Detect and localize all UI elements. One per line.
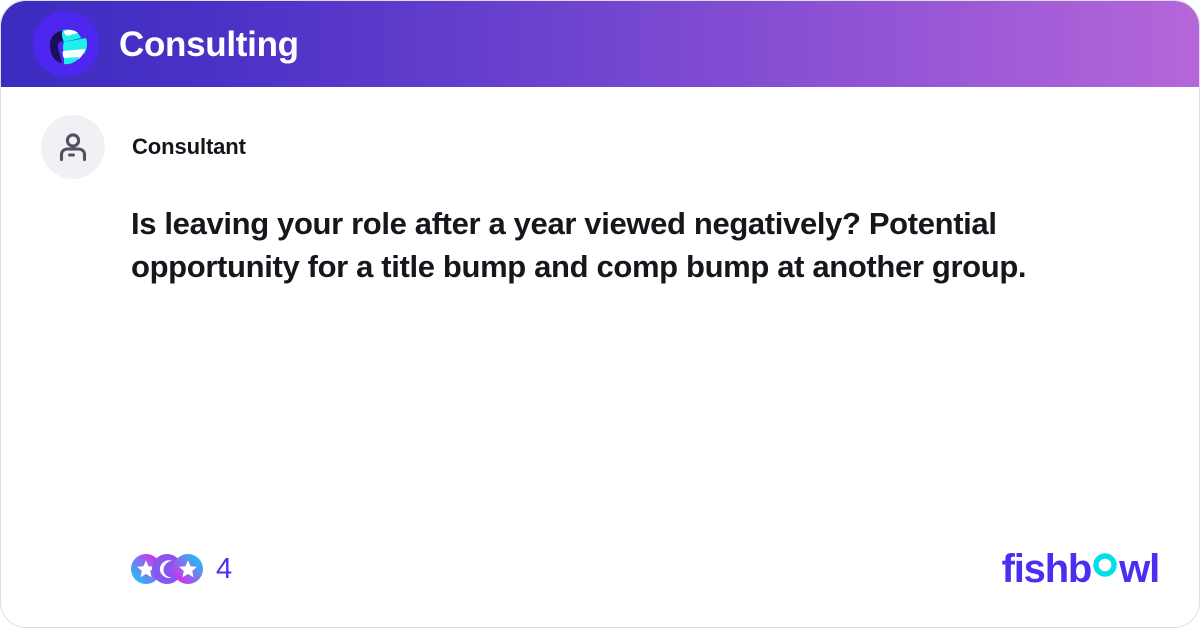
- reaction-badge-stack[interactable]: [131, 553, 203, 585]
- page-title: Consulting: [119, 27, 299, 62]
- post-body-text: Is leaving your role after a year viewed…: [131, 203, 1099, 289]
- reaction-count: 4: [216, 555, 232, 584]
- reactions-group[interactable]: 4: [131, 553, 232, 585]
- author-name: Consultant: [132, 134, 246, 160]
- fishbowl-wordmark-after: wl: [1119, 549, 1159, 589]
- card-header: Consulting: [1, 1, 1199, 87]
- avatar: [41, 115, 105, 179]
- author-row: Consultant: [41, 115, 1159, 179]
- card-footer: 4 fishb wl: [1, 547, 1199, 591]
- card-body: Consultant Is leaving your role after a …: [1, 87, 1199, 627]
- person-icon: [56, 130, 90, 164]
- fishbowl-brand-logo: fishb wl: [1002, 549, 1159, 589]
- reaction-badge-star-2[interactable]: [173, 554, 203, 584]
- fishbowl-bowl-logo: [33, 11, 99, 77]
- fishbowl-post-card: Consulting Consultant Is leaving your ro…: [0, 0, 1200, 628]
- fishbowl-wordmark-before: fishb: [1002, 549, 1092, 589]
- fishbowl-o-ring-icon: [1092, 552, 1118, 582]
